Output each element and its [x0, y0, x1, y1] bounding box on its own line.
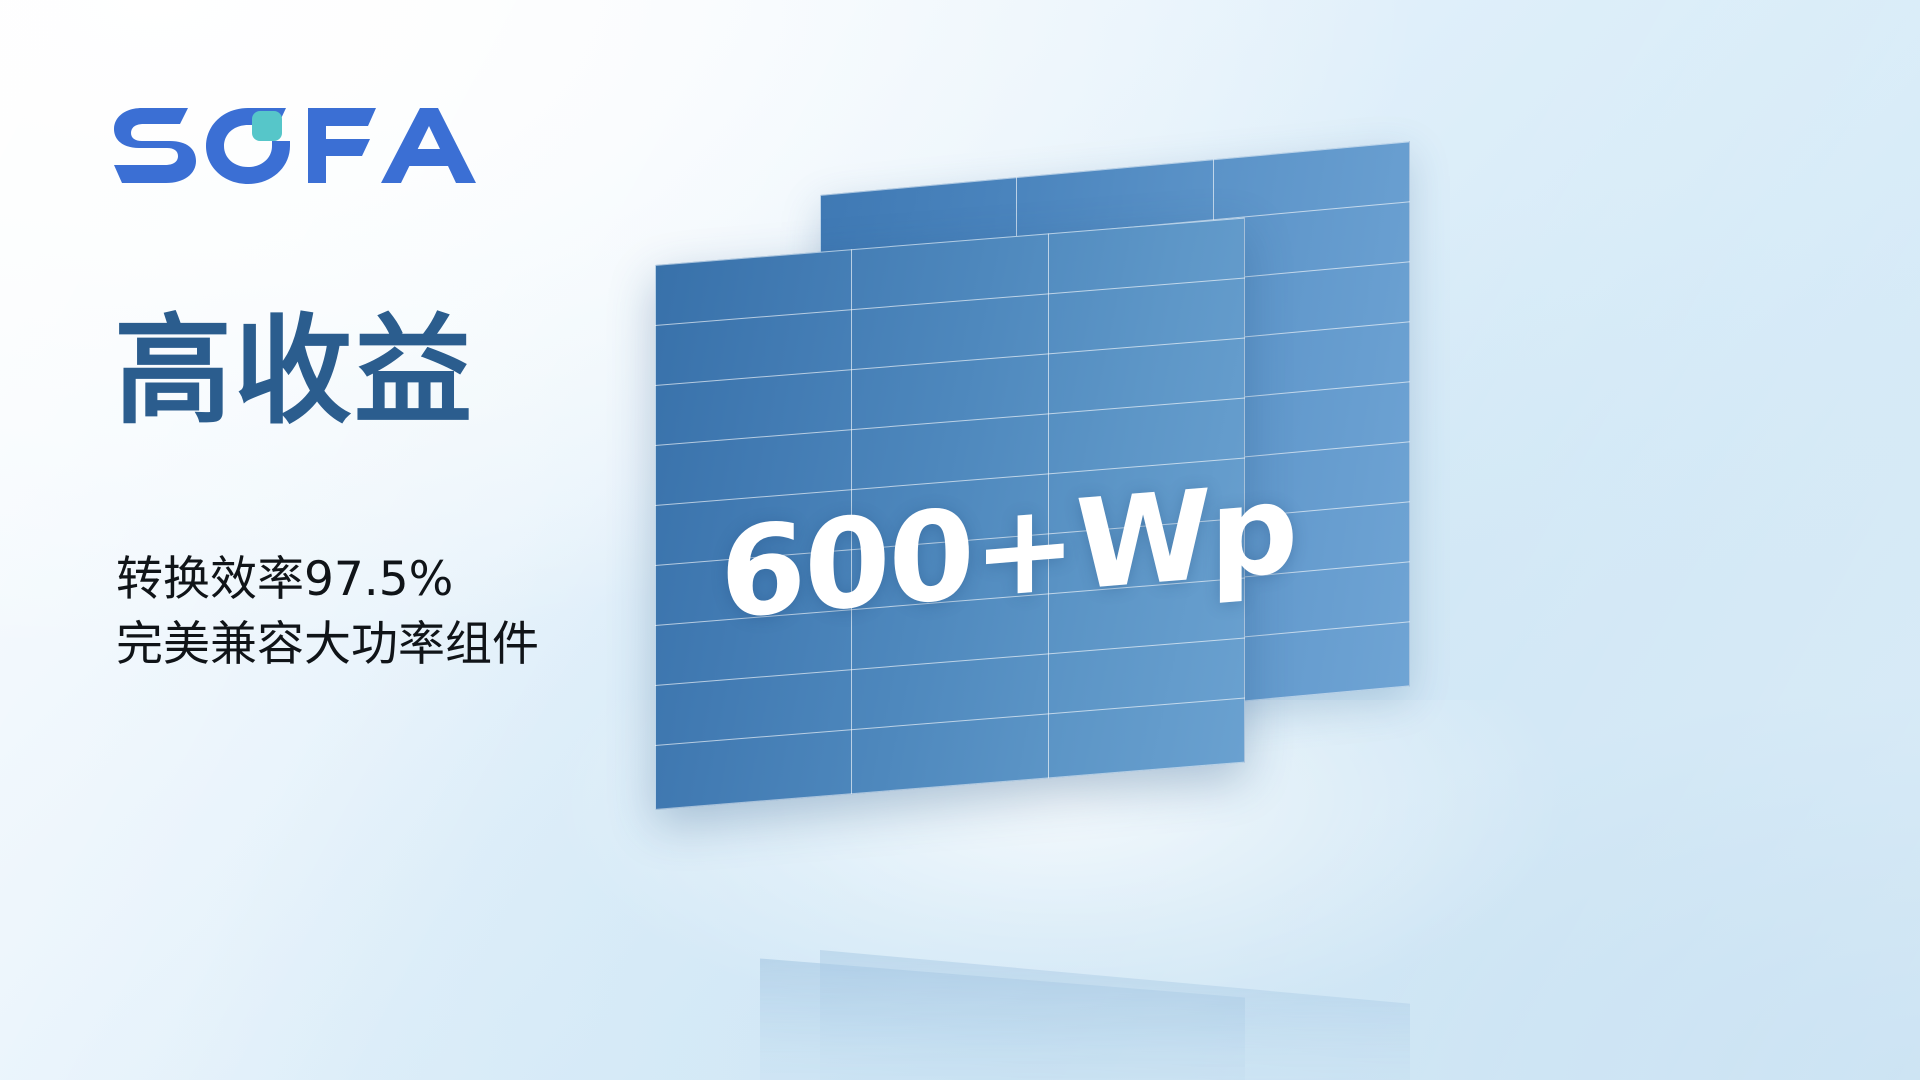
- subtitle-line-1: 转换效率97.5%: [116, 548, 539, 613]
- marketing-banner: SOFAR 高收益 转换效率97.5% 完美兼容大功率组件: [0, 0, 1920, 1080]
- subtitle-line-2: 完美兼容大功率组件: [116, 613, 539, 678]
- solar-panel-group: 600+Wp: [760, 150, 1580, 950]
- headline: 高收益: [114, 312, 474, 430]
- sofar-logo[interactable]: SOFAR: [112, 105, 492, 187]
- subtitle-block: 转换效率97.5% 完美兼容大功率组件: [116, 548, 539, 678]
- o-accent-square: [252, 111, 282, 141]
- panel-reflection-group: [760, 950, 1580, 1080]
- panel-reflection-back: [820, 950, 1410, 1080]
- left-content-column: SOFAR 高收益 转换效率97.5% 完美兼容大功率组件: [112, 0, 732, 1080]
- panel-reflection-front: [760, 950, 1245, 1080]
